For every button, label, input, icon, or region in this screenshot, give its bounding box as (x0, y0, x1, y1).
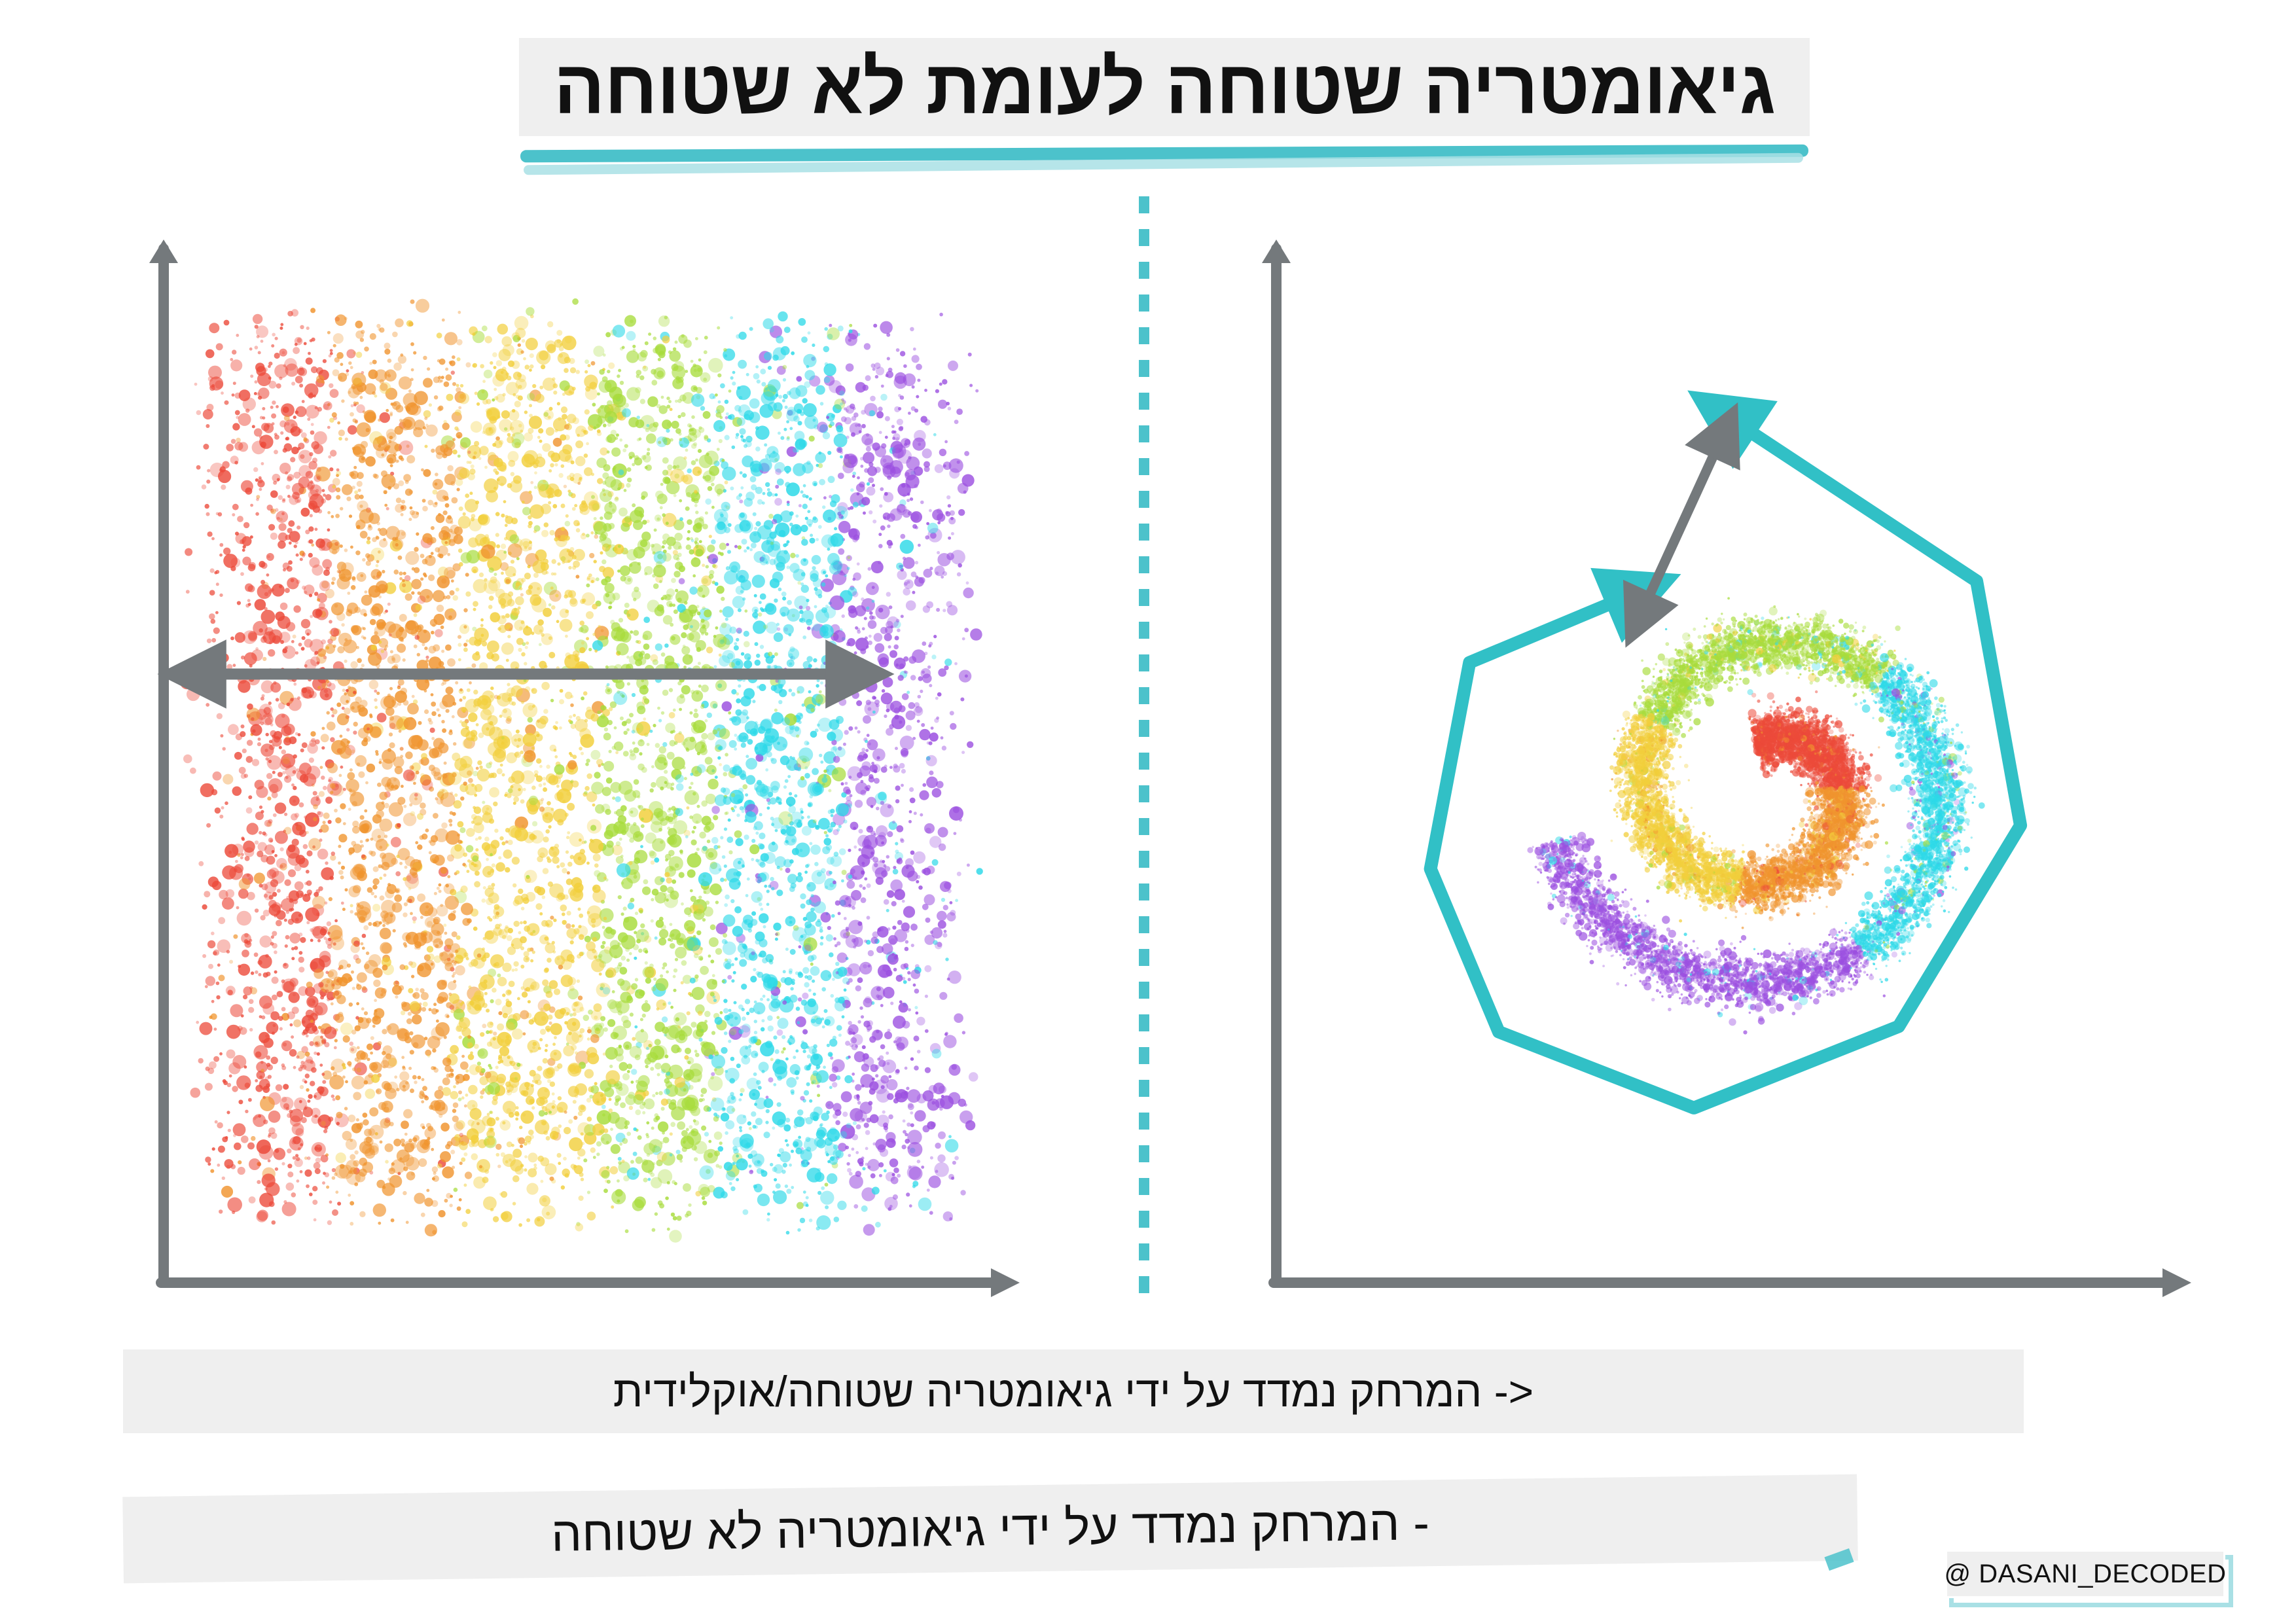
scatter-points (1527, 597, 1984, 1034)
page-title: גיאומטריה שטוחה לעומת לא שטוחה (554, 49, 1775, 125)
watermark-box: @ DASANI_DECODED (1945, 1550, 2225, 1598)
caption-non-euclidean-text: - המרחק נמדד על ידי גיאומטריה לא שטוחה (551, 1499, 1430, 1559)
caption-euclidean-text: <- המרחק נמדד על ידי גיאומטריה שטוחה/אוק… (613, 1370, 1534, 1413)
watermark-handle: @ DASANI_DECODED (1945, 1560, 2227, 1589)
watermark: @ DASANI_DECODED (1945, 1550, 2233, 1605)
curved-manifold-scatter (1250, 223, 2225, 1309)
curved-geometry-panel (1250, 223, 2225, 1309)
flat-geometry-panel (137, 223, 1054, 1309)
caption-euclidean: <- המרחק נמדד על ידי גיאומטריה שטוחה/אוק… (123, 1349, 2024, 1433)
axis-lines (1262, 240, 2191, 1297)
caption-non-euclidean: - המרחק נמדד על ידי גיאומטריה לא שטוחה (122, 1474, 1858, 1584)
panel-divider (1139, 196, 1149, 1302)
title-bar: גיאומטריה שטוחה לעומת לא שטוחה (519, 38, 1810, 136)
flat-geometry-scatter (137, 223, 1054, 1309)
ambient-distance-arrow (1645, 445, 1719, 605)
scatter-points (180, 298, 983, 1243)
